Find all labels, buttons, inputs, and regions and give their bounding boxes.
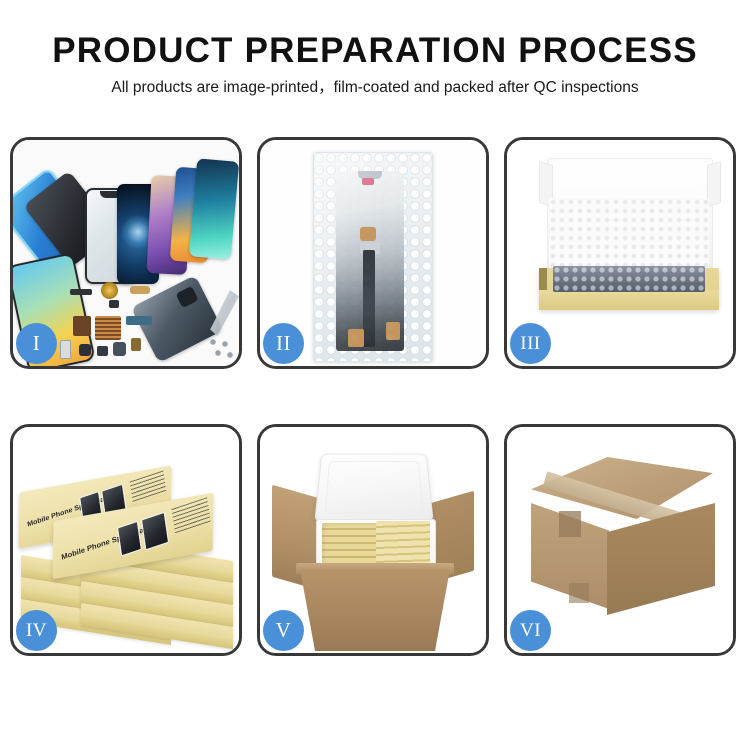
header: PRODUCT PREPARATION PROCESS All products… <box>0 30 750 99</box>
box-artwork-thumbnail <box>141 512 169 551</box>
adhesive-tape-icon <box>386 322 400 340</box>
step-badge-3: III <box>510 323 551 364</box>
page-subtitle: All products are image-printed，film-coat… <box>0 77 750 99</box>
small-part-icon <box>97 346 108 356</box>
foam-sheet-icon <box>549 198 709 274</box>
circuit-board-component-icon <box>95 316 121 340</box>
adhesive-tape-icon <box>348 329 364 347</box>
lcd-screen-icon <box>336 171 404 351</box>
small-part-icon <box>131 338 141 351</box>
screws-icon <box>209 338 235 360</box>
carton-body-icon <box>300 569 450 651</box>
grey-bubble-wrap-icon <box>553 266 705 292</box>
box-spec-lines <box>130 470 167 504</box>
small-part-icon <box>109 300 119 308</box>
step-badge-6: VI <box>510 610 551 651</box>
connector-flex-component-icon <box>126 316 152 325</box>
bubble-wrap-bag-icon <box>313 152 433 362</box>
box-front-panel <box>539 290 719 310</box>
product-preparation-process-infographic: PRODUCT PREPARATION PROCESS All products… <box>0 0 750 750</box>
carton-right-face-icon <box>607 503 715 615</box>
small-part-icon <box>113 342 126 356</box>
foam-box-lid-icon <box>314 454 434 523</box>
qc-sticker-icon <box>362 178 374 185</box>
box-spec-lines <box>172 497 211 534</box>
step-badge-5: V <box>263 610 304 651</box>
process-step-panel-1: I <box>10 137 242 369</box>
process-step-panel-4: Mobile Phone Spare Parts Mobile Phone Sp… <box>10 424 242 656</box>
process-step-panel-2: II <box>257 137 489 369</box>
step-badge-1: I <box>16 323 57 364</box>
process-step-panel-5: V <box>257 424 489 656</box>
teal-display-screen-icon <box>189 158 239 259</box>
box-artwork-thumbnail <box>117 521 142 557</box>
process-step-panel-6: VI <box>504 424 736 656</box>
page-title: PRODUCT PREPARATION PROCESS <box>0 30 750 72</box>
sim-tray-icon <box>60 340 71 359</box>
copper-flex-component-icon <box>73 316 91 336</box>
inner-yellow-box-stack-icon <box>376 521 430 565</box>
adhesive-tape-icon <box>360 227 376 241</box>
earpiece-mesh-component-icon <box>70 289 92 295</box>
process-step-grid: I II <box>10 137 740 656</box>
small-part-icon <box>79 344 91 356</box>
carton-handle-tab-icon <box>559 511 581 537</box>
speaker-component-icon <box>101 282 118 299</box>
process-step-panel-3: III <box>504 137 736 369</box>
step-badge-2: II <box>263 323 304 364</box>
flex-cable-component-icon <box>130 286 150 294</box>
step-badge-4: IV <box>16 610 57 651</box>
display-flex-cable-icon <box>363 250 375 347</box>
carton-handle-tab-icon <box>569 583 589 603</box>
